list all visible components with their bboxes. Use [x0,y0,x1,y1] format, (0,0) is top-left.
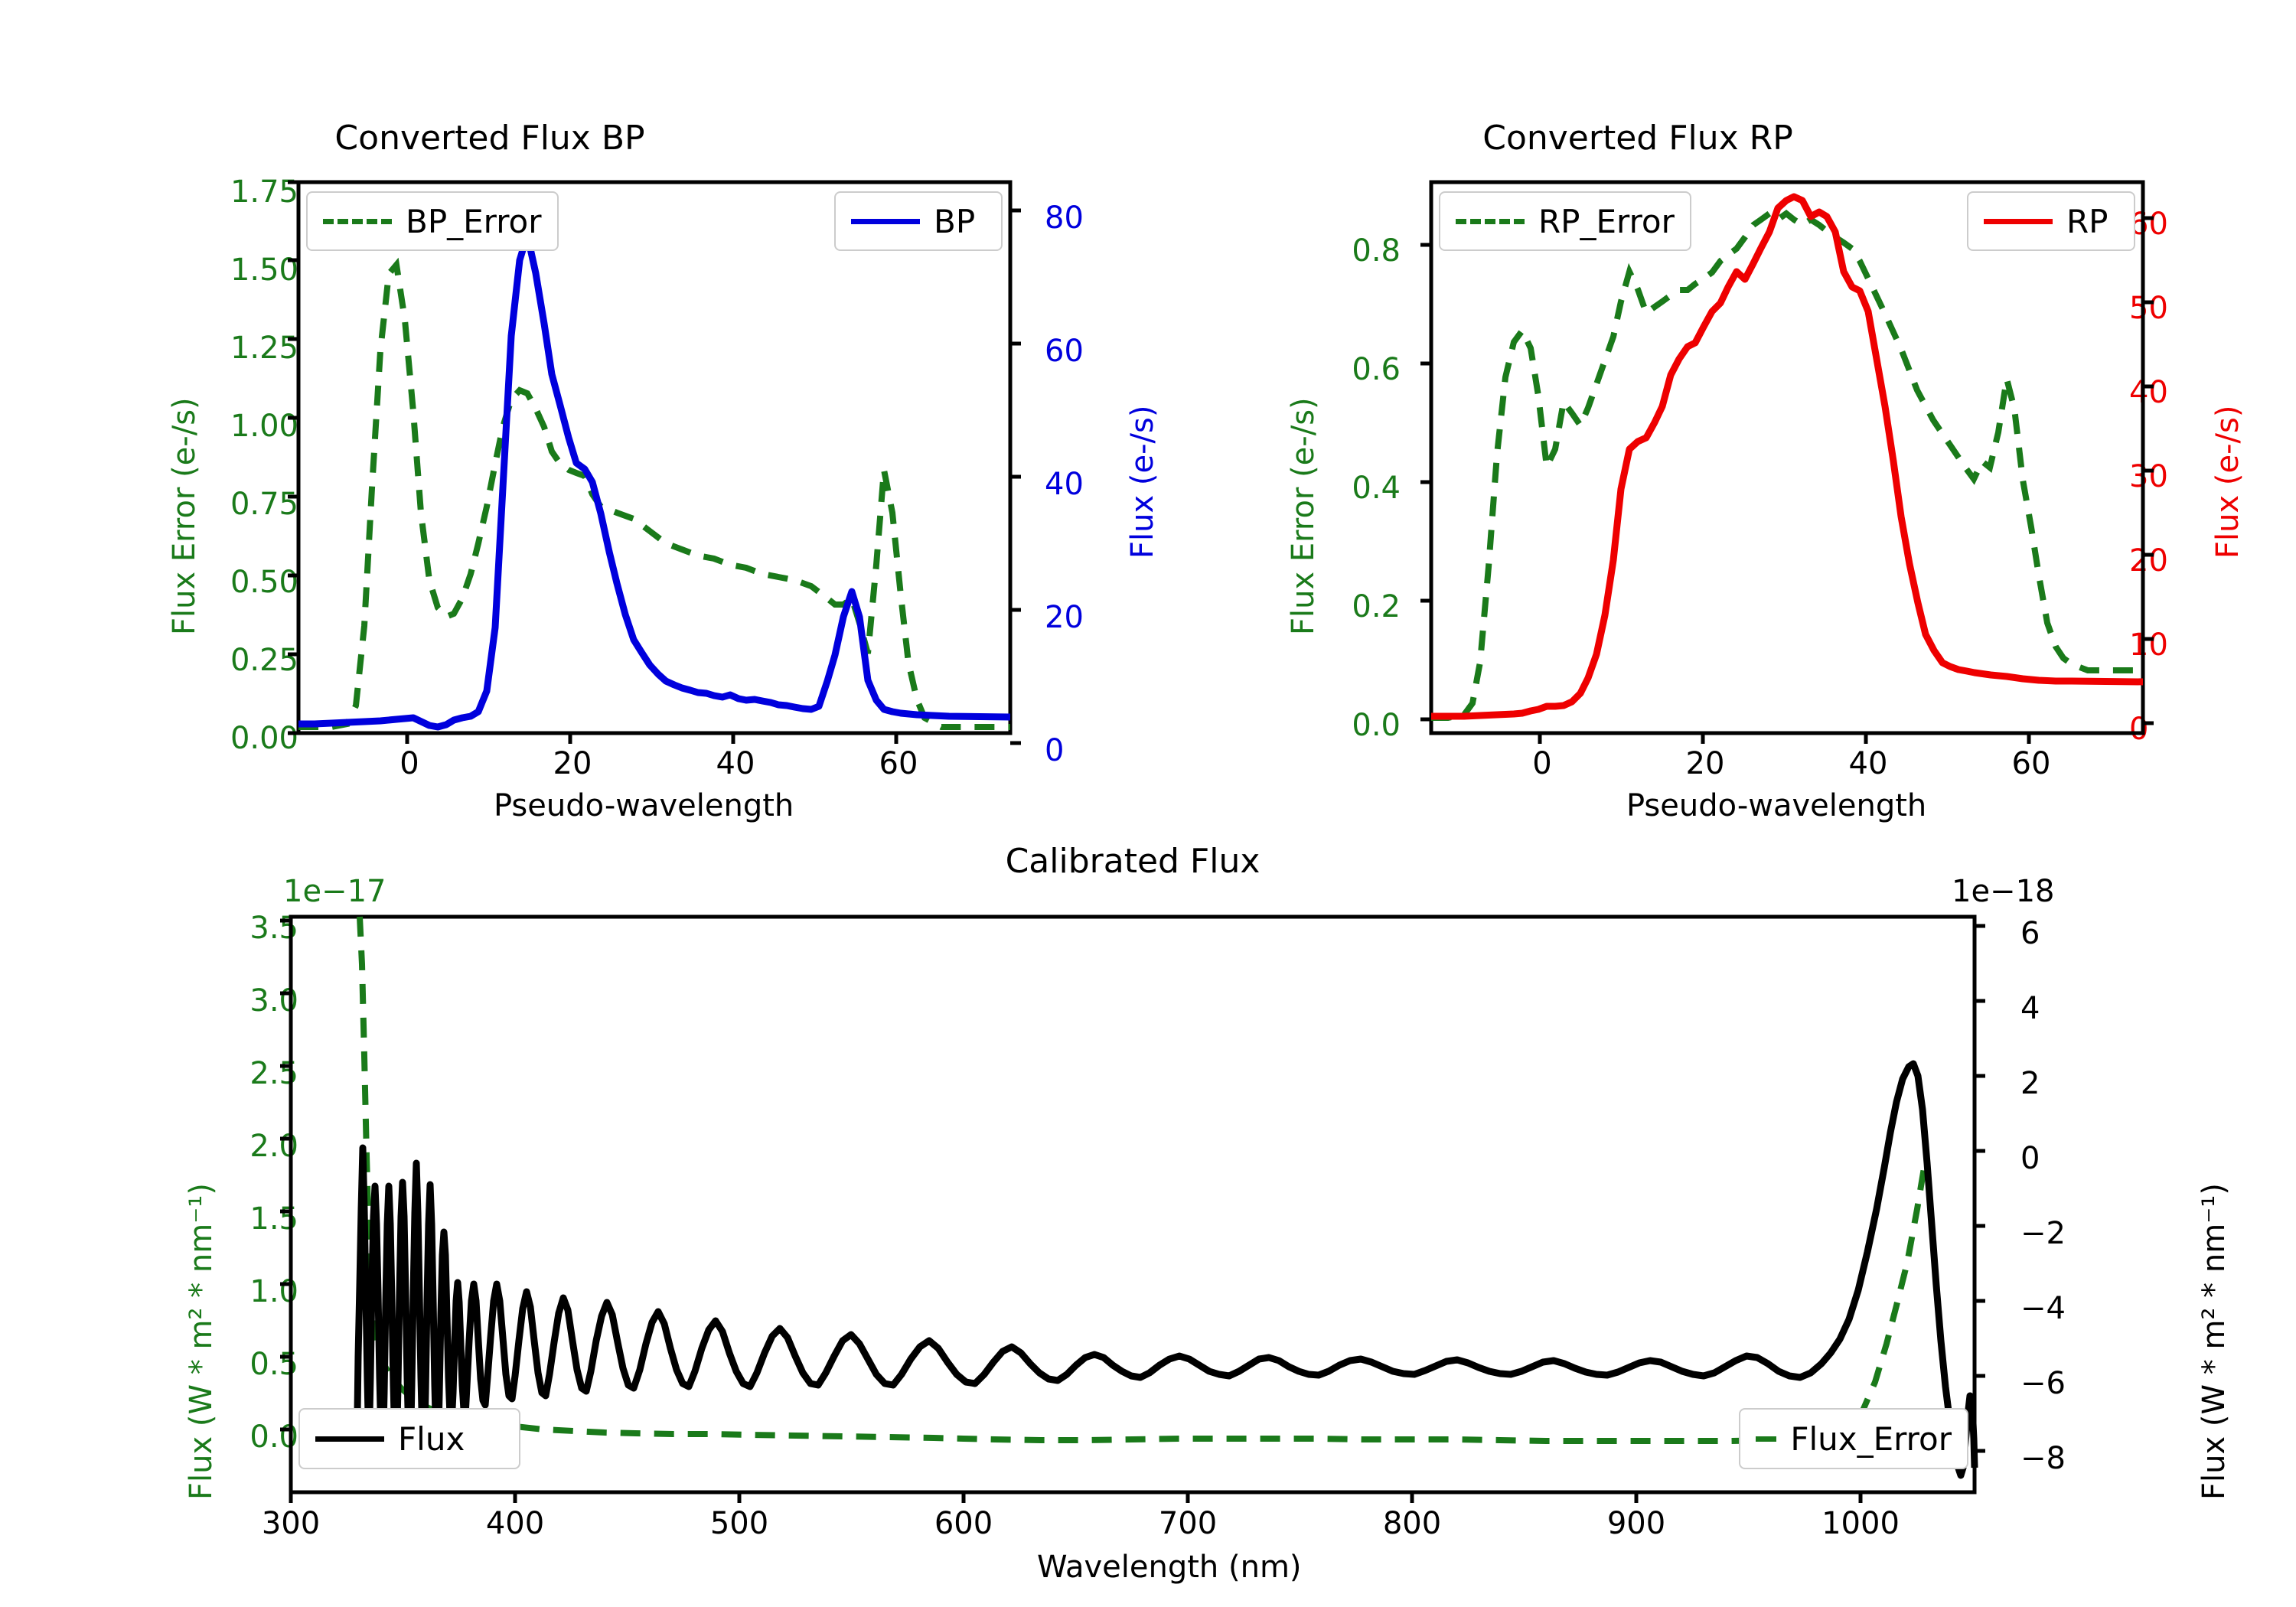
legend-bp-error[interactable]: BP_Error [306,191,559,251]
legend-rp-error[interactable]: RP_Error [1439,191,1691,251]
plot-area-calibrated [0,826,2296,1607]
plot-area-rp [1148,0,2296,826]
legend-flux-error[interactable]: Flux_Error [1739,1408,1968,1469]
legend-flux[interactable]: Flux [298,1408,520,1469]
legend-label-flux-error: Flux_Error [1790,1420,1952,1458]
legend-label-flux: Flux [398,1420,465,1458]
panel-converted-flux-bp: Converted Flux BP Flux Error (e-/s) Flux… [0,0,1148,826]
legend-bp[interactable]: BP [834,191,1003,251]
legend-swatch-bp [851,219,920,224]
legend-label-bp: BP [934,203,975,240]
legend-swatch-bp-error [323,219,392,224]
legend-swatch-flux [315,1436,384,1442]
legend-swatch-rp-error [1456,219,1525,224]
legend-label-bp-error: BP_Error [406,203,542,240]
plot-area-bp [0,0,1148,826]
legend-rp[interactable]: RP [1967,191,2135,251]
legend-label-rp: RP [2066,203,2108,240]
legend-swatch-rp [1984,219,2053,224]
figure-canvas: Converted Flux BP Flux Error (e-/s) Flux… [0,0,2296,1607]
legend-swatch-flux-error [1756,1436,1776,1442]
legend-label-rp-error: RP_Error [1538,203,1675,240]
panel-calibrated-flux: Calibrated Flux 1e−17 1e−18 Flux (W * m²… [0,826,2296,1607]
panel-converted-flux-rp: Converted Flux RP Flux Error (e-/s) Flux… [1148,0,2296,826]
